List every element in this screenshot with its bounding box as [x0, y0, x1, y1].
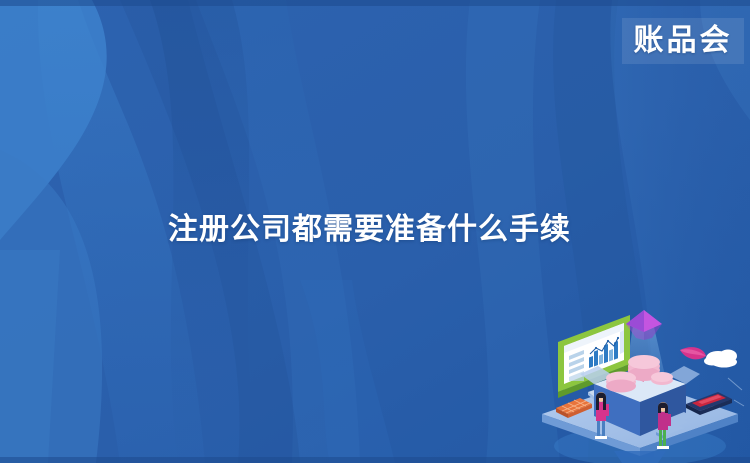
site-logo[interactable]: 账品会 [622, 18, 744, 64]
cloud-icon [704, 350, 737, 368]
site-logo-text: 账品会 [634, 26, 733, 56]
platform-pedestal [614, 451, 666, 463]
page-title: 注册公司都需要准备什么手续 [168, 212, 571, 248]
gem-icon [626, 310, 662, 340]
promo-banner: 账品会 注册公司都需要准备什么手续 [0, 0, 750, 463]
screen-side-panel [620, 330, 624, 354]
arrow-leaf-icon [680, 347, 706, 359]
isometric-illustration [528, 296, 750, 463]
